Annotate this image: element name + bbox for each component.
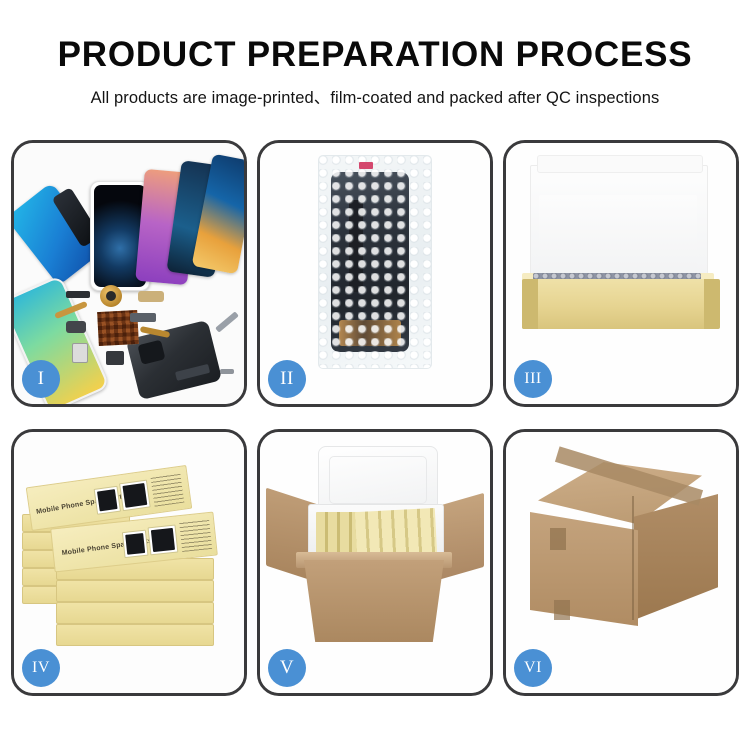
carton-tab-icon [554,600,570,620]
process-step-panel-3: III [503,140,739,407]
page-title: PRODUCT PREPARATION PROCESS [0,0,750,74]
carton-front-face-icon [530,512,638,626]
process-step-panel-4: Mobile Phone Spare Parts Mobile Phone Sp… [11,429,247,696]
small-part-icon [220,369,234,374]
lid-window [119,480,151,512]
step-badge-4: IV [22,649,60,687]
lid-window [122,530,149,558]
stacked-box [56,580,214,602]
packed-yellow-boxes-icon [355,508,437,558]
box-side-right-icon [704,279,720,329]
header: PRODUCT PREPARATION PROCESS All products… [0,0,750,108]
step-badge-1: I [22,360,60,398]
bubble-wrap-bag-icon [318,155,432,369]
step-badge-2: II [268,360,306,398]
lid-spec-lines [150,473,184,507]
copper-coil-part-icon [100,285,122,307]
process-step-panel-6: VI [503,429,739,696]
product-preparation-infographic: PRODUCT PREPARATION PROCESS All products… [0,0,750,750]
stacked-box [56,602,214,624]
small-part-icon [106,351,124,365]
small-part-icon [138,291,164,302]
carton-tab-icon [550,528,566,550]
process-step-panel-5: V [257,429,493,696]
step-badge-6: VI [514,649,552,687]
yellow-box-base-icon [522,279,714,329]
screen-assembly-icon [331,172,409,352]
small-part-icon [66,321,86,333]
small-part-icon [66,291,90,298]
pink-tag-icon [359,162,373,169]
carton-seam-icon [632,496,634,620]
page-subtitle: All products are image-printed、film-coat… [0,74,750,108]
box-side-left-icon [522,279,538,329]
lid-window [148,525,179,556]
step-badge-5: V [268,649,306,687]
box-stack-icon: Mobile Phone Spare Parts Mobile Phone Sp… [20,458,240,648]
process-steps-grid: I II [11,140,739,696]
lid-window [94,486,121,515]
process-step-panel-2: II [257,140,493,407]
step-badge-3: III [514,360,552,398]
lid-spec-lines [179,519,212,552]
stacked-box [56,624,214,646]
process-step-panel-1: I [11,140,247,407]
small-part-icon [130,313,156,322]
carton-body-icon [304,560,444,642]
small-part-icon [72,343,88,363]
